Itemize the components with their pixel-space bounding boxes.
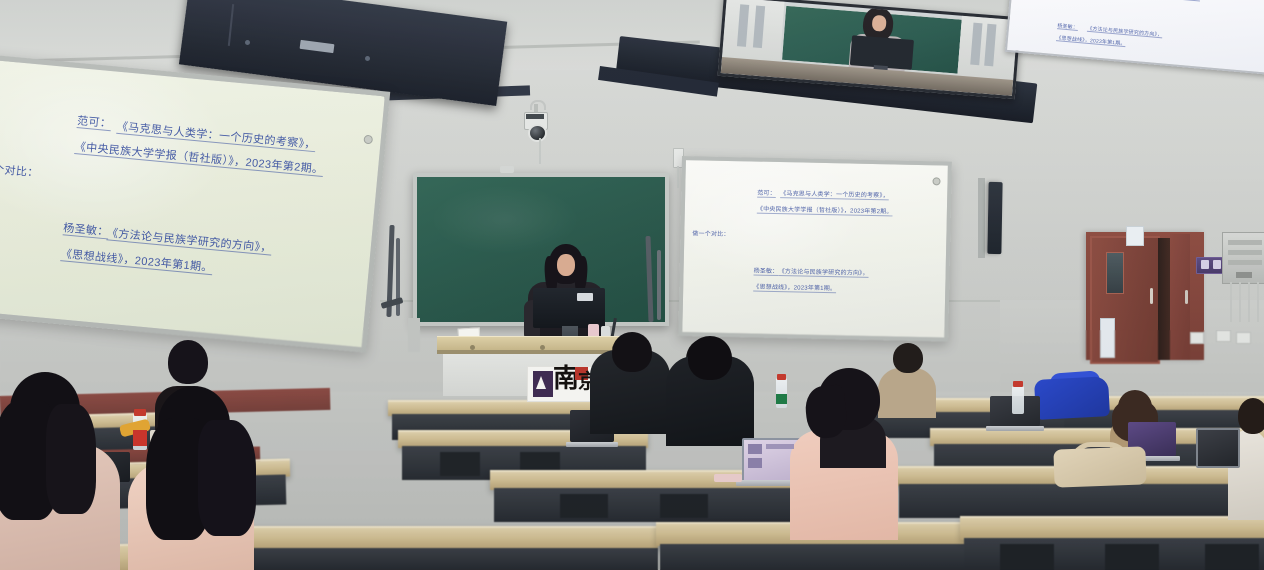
monitor-label (577, 293, 593, 301)
conduit (1230, 282, 1232, 322)
slide-citation2-source: 《思想战线》，2023年第1期。 (60, 245, 213, 275)
board-corner-fitting (363, 135, 373, 145)
conduit (1248, 282, 1250, 322)
screen-glare (678, 156, 866, 284)
far-slide-line-top: 《中央民族大学学报（哲社版）》，2023年第2期。 (1086, 0, 1200, 1)
sign-glyph (1201, 260, 1209, 269)
student-head (688, 336, 732, 380)
student-head (168, 340, 208, 384)
beige-bag (1053, 446, 1146, 487)
desk-base (244, 548, 658, 570)
panel-slat (1228, 260, 1262, 265)
blackboard-sheen (430, 185, 580, 255)
desk-shelf-gap (1205, 544, 1259, 570)
door-upper-notice (1126, 226, 1144, 246)
tablet-screen (1196, 428, 1240, 468)
board-corner-fitting (932, 177, 940, 185)
desk-shelf-gap (440, 452, 480, 476)
student-head (1238, 398, 1264, 434)
door-window (1106, 252, 1124, 294)
camera-lens-icon (528, 124, 547, 142)
right-slide-citation2-author: 杨圣敏： (754, 266, 779, 276)
laptop-ui-block (748, 444, 762, 454)
podium-knob (470, 345, 475, 350)
blackboard-side-rail (408, 318, 420, 352)
left-projection-whiteboard: 做一个对比： 范可： 《马克思与人类学：一个历史的考察》， 《中央民族大学学报（… (0, 54, 390, 353)
bottle-cap (1013, 381, 1023, 387)
right-slide-citation2-title: 《方法论与民族学研究的方向》， (779, 266, 869, 277)
laptop-ui-line (766, 444, 794, 449)
light-switch[interactable] (1190, 332, 1204, 344)
laptop-base (566, 442, 618, 447)
wall-speaker (987, 182, 1002, 254)
panel-label (1236, 272, 1252, 278)
door-gap (1158, 238, 1170, 360)
bottle-label (776, 394, 787, 404)
conduit (1239, 282, 1241, 322)
bottle-label (133, 430, 147, 446)
right-slide-citation1-author: 范可： (757, 188, 776, 197)
desk-row (238, 526, 658, 550)
camera-mount-hook (530, 100, 546, 110)
projector-screw (365, 56, 370, 61)
door-notice-paper (1100, 318, 1115, 358)
desk-base (660, 544, 996, 570)
far-slide-citation2-author: 杨圣敏： (1057, 22, 1078, 31)
wall-sensor-cable (677, 166, 679, 188)
lecturer-face (557, 254, 575, 276)
panel-slat (1228, 240, 1262, 245)
right-slide-prompt-line: 做一个对比： (692, 228, 729, 238)
desk-shelf-gap (1000, 544, 1054, 570)
student-body (878, 368, 936, 418)
conduit-group (1230, 282, 1260, 322)
door-handle[interactable] (1185, 290, 1188, 304)
speaker-rail (978, 178, 985, 258)
pointer-stick (657, 250, 661, 320)
student-hair (198, 420, 256, 536)
desk-shelf-gap (660, 494, 708, 518)
bottle-cap (777, 374, 786, 380)
water-bottle (1012, 386, 1024, 414)
projector-screw (245, 40, 250, 45)
power-socket[interactable] (1236, 332, 1251, 344)
camera-lens-band (526, 114, 544, 119)
door-handle[interactable] (1150, 288, 1153, 304)
pencil-case (714, 474, 742, 482)
far-slide-citation2-title: 《方法论与民族学研究的方向》， (1087, 25, 1163, 39)
laptop-base (986, 426, 1044, 431)
blackboard-clip (500, 166, 514, 173)
conduit (1257, 282, 1259, 322)
camera-cable (539, 138, 541, 164)
panel-slat (1228, 250, 1262, 255)
bottle-cap (134, 409, 146, 416)
student-hair (46, 404, 96, 514)
right-slide-citation2-source: 《思想战线》，2023年第1期。 (753, 282, 836, 293)
laptop-ui-block (748, 458, 762, 468)
desk-shelf-gap (1105, 544, 1159, 570)
podium-monitor (533, 288, 605, 328)
desk-row (960, 516, 1264, 540)
far-slide-citation2-source: 《思想战线》，2023年第1期。 (1056, 34, 1126, 47)
student-head (612, 332, 652, 372)
desk-base (494, 488, 820, 522)
desk-shelf-gap (560, 494, 608, 518)
power-socket[interactable] (1216, 330, 1231, 342)
desk-base (899, 484, 1264, 518)
podium-knob (540, 345, 545, 350)
student-head (893, 343, 923, 373)
right-projection-whiteboard: 做一个对比： 范可： 《马克思与人类学：一个历史的考察》， 《中央民族大学学报（… (678, 156, 952, 342)
draped-jacket (1034, 376, 1110, 420)
lecture-hall-photo: 《中央民族大学学报（哲社版）》，2023年第2期。 杨圣敏： 《方法论与民族学研… (0, 0, 1264, 570)
slide-citation1-author: 范可： (77, 112, 113, 131)
sign-glyph (1213, 260, 1221, 269)
